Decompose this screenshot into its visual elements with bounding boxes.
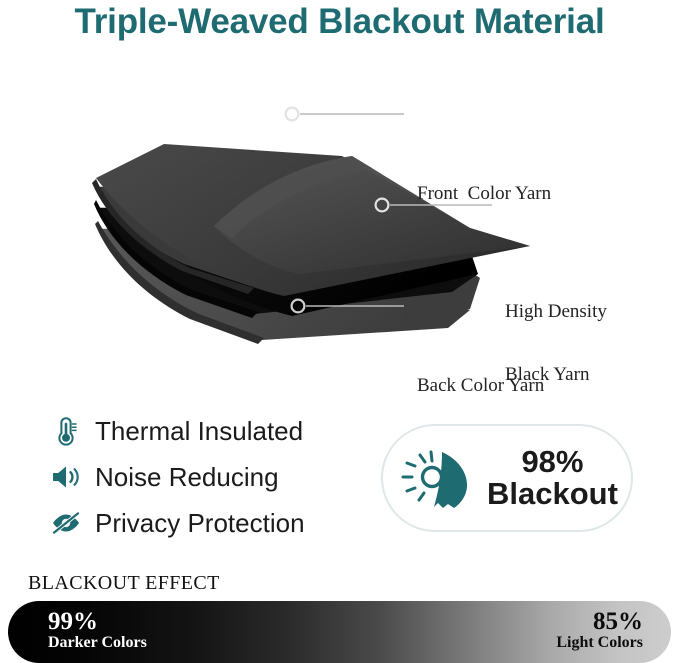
fabric-layers-diagram: Front Color Yarn High Density Black Yarn… bbox=[0, 78, 679, 348]
blackout-badge: 98% Blackout bbox=[381, 424, 633, 532]
eye-slash-icon bbox=[46, 504, 86, 542]
speaker-sound-icon bbox=[46, 458, 86, 496]
thermometer-icon bbox=[46, 412, 86, 450]
feature-item-noise: Noise Reducing bbox=[46, 454, 366, 500]
blackout-effect-light-side: 85% Light Colors bbox=[556, 609, 643, 652]
feature-list: Thermal Insulated Noise Reducing Privacy… bbox=[46, 408, 366, 546]
blackout-word: Blackout bbox=[487, 478, 618, 510]
feature-item-thermal: Thermal Insulated bbox=[46, 408, 366, 454]
light-percent: 85% bbox=[556, 609, 643, 635]
blackout-percent: 98% bbox=[487, 446, 618, 478]
label-high-density-line1: High Density bbox=[505, 301, 607, 322]
feature-label-privacy: Privacy Protection bbox=[95, 508, 305, 539]
feature-item-privacy: Privacy Protection bbox=[46, 500, 366, 546]
blackout-badge-text: 98% Blackout bbox=[487, 446, 618, 509]
dark-caption: Darker Colors bbox=[48, 635, 147, 652]
dark-percent: 99% bbox=[48, 609, 147, 635]
light-caption: Light Colors bbox=[556, 635, 643, 652]
blackout-effect-gradient-bar: 99% Darker Colors 85% Light Colors bbox=[8, 601, 671, 663]
label-back-color-yarn: Back Color Yarn bbox=[417, 375, 544, 396]
label-high-density-black-yarn: High Density Black Yarn bbox=[505, 258, 607, 428]
leader-dot-front bbox=[286, 108, 299, 121]
feature-label-thermal: Thermal Insulated bbox=[95, 416, 303, 447]
blackout-effect-dark-side: 99% Darker Colors bbox=[48, 609, 147, 652]
blackout-effect-heading: BLACKOUT EFFECT bbox=[28, 572, 220, 595]
feature-label-noise: Noise Reducing bbox=[95, 462, 279, 493]
sun-behind-curtain-icon bbox=[395, 442, 479, 514]
page-title: Triple-Weaved Blackout Material bbox=[0, 2, 679, 42]
label-front-color-yarn: Front Color Yarn bbox=[417, 183, 551, 204]
